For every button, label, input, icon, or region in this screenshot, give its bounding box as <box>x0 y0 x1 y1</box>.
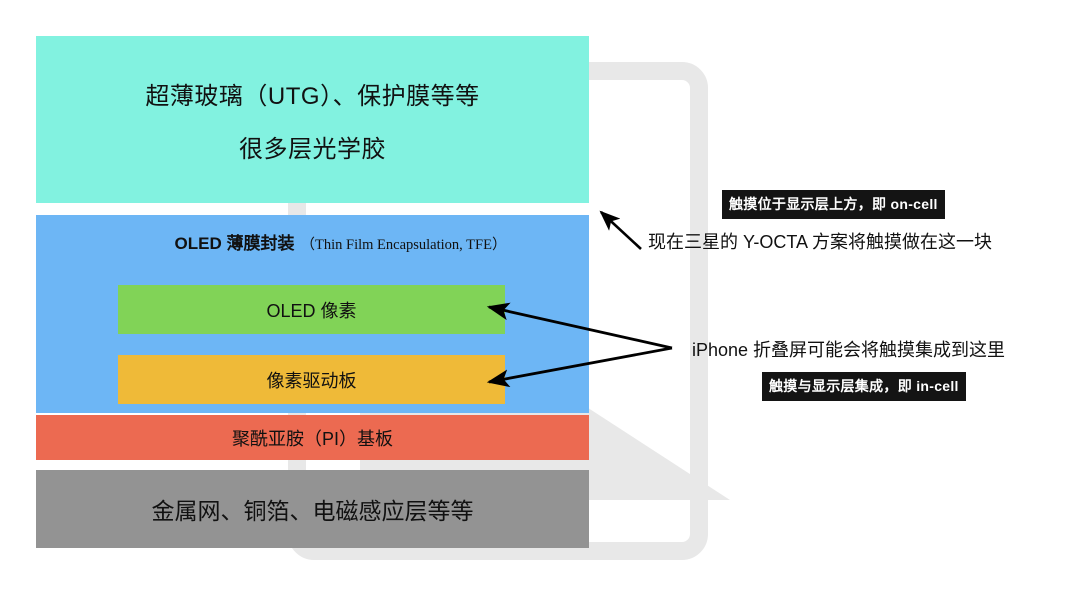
annotation-in-cell-body: iPhone 折叠屏可能会将触摸集成到这里 <box>692 336 1005 362</box>
layer-metal-mesh-label: 金属网、铜箔、电磁感应层等等 <box>152 492 474 526</box>
layer-pixel-driver: 像素驱动板 <box>118 355 505 404</box>
layer-pi-substrate-label: 聚酰亚胺（PI）基板 <box>232 425 393 451</box>
diagram-canvas: 超薄玻璃（UTG）、保护膜等等 很多层光学胶 OLED 薄膜封装 （Thin F… <box>0 0 1080 616</box>
annotation-on-cell-tag: 触摸位于显示层上方，即 on-cell <box>722 190 945 219</box>
layer-pi-substrate: 聚酰亚胺（PI）基板 <box>36 415 589 460</box>
layer-metal-mesh: 金属网、铜箔、电磁感应层等等 <box>36 470 589 548</box>
annotation-on-cell-body: 现在三星的 Y-OCTA 方案将触摸做在这一块 <box>648 228 992 254</box>
layer-oled-pixel: OLED 像素 <box>118 285 505 334</box>
layer-tfe-title: OLED 薄膜封装 <box>175 229 295 254</box>
layer-utg-line1: 超薄玻璃（UTG）、保护膜等等 <box>145 76 479 111</box>
layer-tfe-subtitle: （Thin Film Encapsulation, TFE） <box>301 233 507 254</box>
annotation-in-cell-tag: 触摸与显示层集成，即 in-cell <box>762 372 966 401</box>
layer-oled-pixel-label: OLED 像素 <box>266 297 356 323</box>
layer-pixel-driver-label: 像素驱动板 <box>267 367 357 393</box>
layer-utg-line2: 很多层光学胶 <box>239 129 386 164</box>
layer-utg: 超薄玻璃（UTG）、保护膜等等 很多层光学胶 <box>36 36 589 203</box>
layer-tfe-title-group: OLED 薄膜封装 （Thin Film Encapsulation, TFE） <box>175 229 507 254</box>
